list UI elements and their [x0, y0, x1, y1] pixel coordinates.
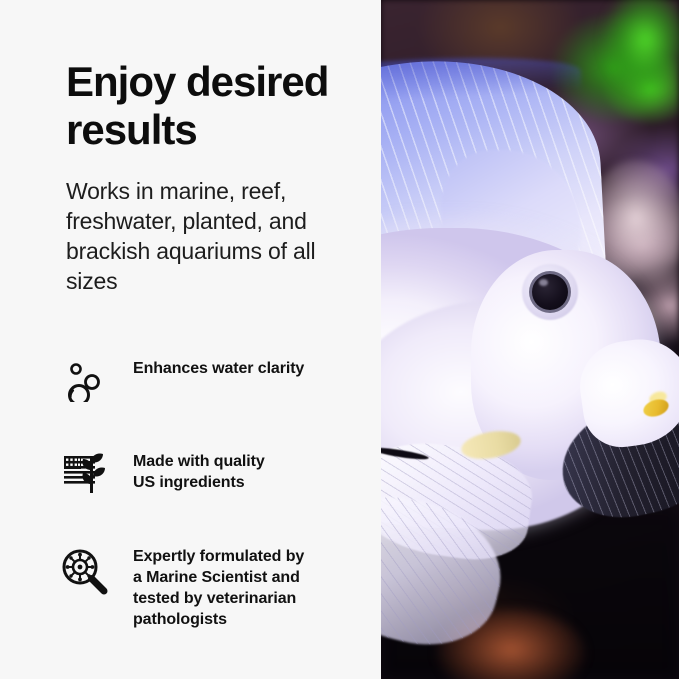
eye-pupil	[532, 274, 568, 310]
feature-label: Enhances water clarity	[133, 340, 304, 379]
feature-item-us-ingredients: Made with quality US ingredients	[0, 440, 381, 540]
bubbles-icon	[60, 352, 110, 402]
left-content-panel: Enjoy desired results Works in marine, r…	[0, 0, 381, 679]
eye-glint	[539, 279, 548, 286]
us-flag-plant-icon	[60, 448, 110, 498]
feature-item-formulated-by-scientist: Expertly formulated by a Marine Scientis…	[0, 540, 381, 660]
promo-infographic: Enjoy desired results Works in marine, r…	[0, 0, 679, 679]
page-title: Enjoy desired results	[66, 58, 366, 154]
aquarium-fish-photo	[381, 0, 679, 679]
subheading-text: Works in marine, reef, freshwater, plant…	[66, 176, 356, 296]
feature-label: Expertly formulated by a Marine Scientis…	[133, 540, 304, 630]
feature-list: Enhances water clarity	[0, 340, 381, 660]
magnifier-microbe-icon	[60, 547, 110, 597]
feature-label: Made with quality US ingredients	[133, 440, 265, 493]
feature-item-water-clarity: Enhances water clarity	[0, 340, 381, 440]
